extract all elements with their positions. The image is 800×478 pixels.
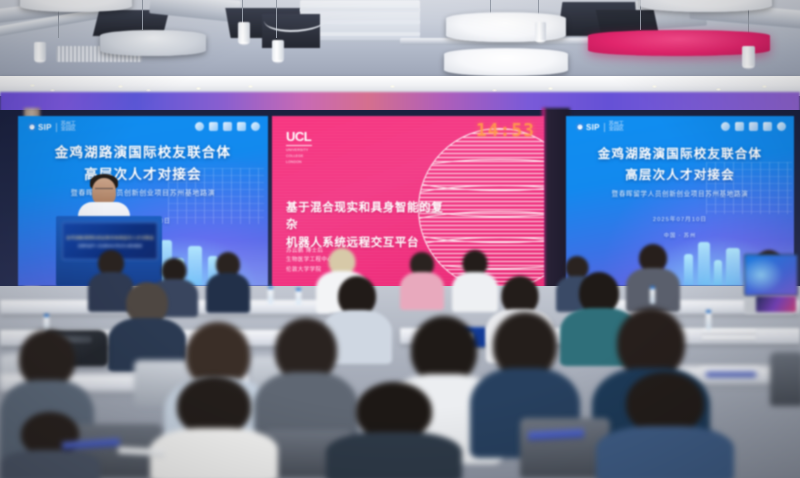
vignette-overlay <box>0 0 800 478</box>
conference-hall-photo: SIP 苏州工业园区 金鸡湖路演国际校友联合体 高层次人才对接会 暨春晖留学人员… <box>0 0 800 478</box>
